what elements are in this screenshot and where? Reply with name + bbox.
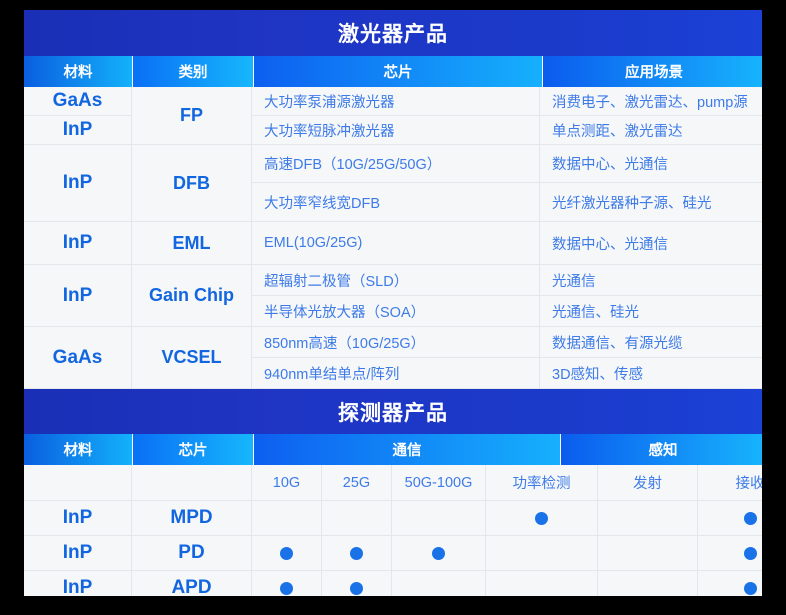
- table-cell-application: 3D感知、传感: [540, 358, 762, 389]
- detector-subheader-25g: 25G: [322, 465, 392, 501]
- table-row: 半导体光放大器（SOA） 光通信、硅光: [252, 296, 762, 327]
- cell-transmit: [598, 536, 698, 571]
- chip-label: 半导体光放大器（SOA）: [264, 301, 425, 322]
- table-cell-chip: 超辐射二极管（SLD）: [252, 265, 540, 296]
- detector-subheader-50g-100g: 50G-100G: [392, 465, 486, 501]
- laser-header-application: 应用场景: [543, 56, 762, 87]
- detector-section-title: 探测器产品: [24, 389, 762, 434]
- table-row: InPPD: [24, 536, 762, 571]
- cell-10g: [252, 571, 322, 596]
- table-cell-category: VCSEL: [132, 327, 252, 389]
- material-label: InP: [63, 232, 93, 254]
- chip-label: 大功率短脉冲激光器: [264, 120, 395, 141]
- support-dot-icon: [280, 582, 293, 595]
- material-stack: GaAs InP: [24, 87, 132, 145]
- material-label: InP: [63, 285, 93, 307]
- cell-power-monitor: [486, 501, 598, 536]
- laser-section-title: 激光器产品: [24, 10, 762, 56]
- table-cell-application: 单点测距、激光雷达: [540, 116, 762, 145]
- subheader-label: 50G-100G: [405, 475, 473, 491]
- laser-header-chip: 芯片: [254, 56, 542, 87]
- chip-app-stack: 大功率泵浦源激光器 消费电子、激光雷达、pump源 大功率短脉冲激光器 单点测距…: [252, 87, 762, 145]
- detector-header-chip: 芯片: [133, 434, 253, 465]
- table-cell-material: GaAs: [24, 327, 132, 389]
- laser-group-vcsel: GaAs VCSEL 850nm高速（10G/25G） 数据通信、有源光缆: [24, 327, 762, 389]
- chip-label: 940nm单结单点/阵列: [264, 363, 399, 384]
- table-row: 大功率窄线宽DFB 光纤激光器种子源、硅光: [252, 183, 762, 222]
- subheader-label: 25G: [343, 475, 370, 491]
- table-cell-material: InP: [24, 116, 132, 145]
- cell-transmit: [598, 571, 698, 596]
- table-cell-chip: EML(10G/25G): [252, 222, 540, 265]
- table-row: 940nm单结单点/阵列 3D感知、传感: [252, 358, 762, 389]
- table-cell-chip: 半导体光放大器（SOA）: [252, 296, 540, 327]
- cell-transmit: [598, 501, 698, 536]
- page-root: 激光器产品 材料 类别 芯片 应用场景 GaAs InP FP: [0, 0, 786, 615]
- cell-25g: [322, 536, 392, 571]
- table-cell-chip: 850nm高速（10G/25G）: [252, 327, 540, 358]
- detector-subheader-power-monitor: 功率检测: [486, 465, 598, 501]
- cell-25g: [322, 571, 392, 596]
- subheader-label: 功率检测: [513, 472, 571, 493]
- support-dot-icon: [744, 512, 757, 525]
- table-cell-application: 光通信、硅光: [540, 296, 762, 327]
- laser-header-category: 类别: [133, 56, 253, 87]
- detector-subheader-receive: 接收: [698, 465, 762, 501]
- material-label: GaAs: [53, 347, 103, 369]
- detector-subheader-10g: 10G: [252, 465, 322, 501]
- table-cell-category: FP: [132, 87, 252, 145]
- chip-label: 高速DFB（10G/25G/50G）: [264, 153, 441, 174]
- table-cell-material: InP: [24, 536, 132, 571]
- laser-group-gain-chip: InP Gain Chip 超辐射二极管（SLD） 光通信: [24, 265, 762, 327]
- table-row: EML(10G/25G) 数据中心、光通信: [252, 222, 762, 265]
- application-label: 光通信、硅光: [552, 301, 639, 322]
- detector-header-communication: 通信: [254, 434, 560, 465]
- chip-label: 大功率泵浦源激光器: [264, 91, 395, 112]
- laser-group-dfb: InP DFB 高速DFB（10G/25G/50G） 数据中心、光通信: [24, 145, 762, 222]
- table-cell-chip: MPD: [132, 501, 252, 536]
- table-cell-chip: 大功率短脉冲激光器: [252, 116, 540, 145]
- material-label: InP: [63, 507, 93, 529]
- table-cell-application: 光通信: [540, 265, 762, 296]
- table-cell-chip: 大功率泵浦源激光器: [252, 87, 540, 116]
- laser-header-row: 材料 类别 芯片 应用场景: [24, 56, 762, 87]
- material-label: GaAs: [53, 90, 103, 112]
- application-label: 光纤激光器种子源、硅光: [552, 192, 712, 213]
- laser-group-eml: InP EML EML(10G/25G) 数据中心、光通信: [24, 222, 762, 265]
- category-label: VCSEL: [161, 347, 221, 367]
- laser-header-material: 材料: [24, 56, 132, 87]
- detector-header-sensing: 感知: [561, 434, 762, 465]
- material-label: InP: [63, 119, 93, 141]
- application-label: 单点测距、激光雷达: [552, 120, 683, 141]
- table-cell-chip: 940nm单结单点/阵列: [252, 358, 540, 389]
- detector-subheader-row: 10G 25G 50G-100G 功率检测 发射 接收: [24, 465, 762, 501]
- product-table-sheet: 激光器产品 材料 类别 芯片 应用场景 GaAs InP FP: [24, 10, 762, 596]
- application-label: 消费电子、激光雷达、pump源: [552, 91, 748, 112]
- detector-subheader-material: [24, 465, 132, 501]
- table-row: InPAPD: [24, 571, 762, 596]
- chip-label: MPD: [170, 507, 212, 529]
- table-cell-application: 消费电子、激光雷达、pump源: [540, 87, 762, 116]
- table-cell-category: Gain Chip: [132, 265, 252, 327]
- chip-label: APD: [171, 577, 211, 596]
- detector-subheader-transmit: 发射: [598, 465, 698, 501]
- laser-table: GaAs InP FP 大功率泵浦源激光器 消费电子、激光雷达: [24, 87, 762, 389]
- table-cell-application: 数据通信、有源光缆: [540, 327, 762, 358]
- category-label: Gain Chip: [149, 285, 234, 305]
- detector-subheader-chip: [132, 465, 252, 501]
- category-label: FP: [180, 105, 203, 125]
- support-dot-icon: [432, 547, 445, 560]
- support-dot-icon: [280, 547, 293, 560]
- table-row: InPMPD: [24, 501, 762, 536]
- chip-app-stack: EML(10G/25G) 数据中心、光通信: [252, 222, 762, 265]
- detector-header-row: 材料 芯片 通信 感知: [24, 434, 762, 465]
- chip-app-stack: 850nm高速（10G/25G） 数据通信、有源光缆 940nm单结单点/阵列 …: [252, 327, 762, 389]
- chip-label: PD: [178, 542, 204, 564]
- cell-10g: [252, 536, 322, 571]
- cell-receive: [698, 571, 762, 596]
- application-label: 光通信: [552, 270, 596, 291]
- table-cell-chip: PD: [132, 536, 252, 571]
- support-dot-icon: [350, 582, 363, 595]
- chip-label: 850nm高速（10G/25G）: [264, 332, 425, 353]
- subheader-label: 10G: [273, 475, 300, 491]
- table-cell-material: InP: [24, 571, 132, 596]
- laser-group-fp: GaAs InP FP 大功率泵浦源激光器 消费电子、激光雷达: [24, 87, 762, 145]
- cell-50g-100g: [392, 571, 486, 596]
- table-cell-category: EML: [132, 222, 252, 265]
- application-label: 3D感知、传感: [552, 363, 643, 384]
- cell-10g: [252, 501, 322, 536]
- cell-25g: [322, 501, 392, 536]
- table-cell-chip: 大功率窄线宽DFB: [252, 183, 540, 222]
- category-label: EML: [173, 233, 211, 253]
- table-row: 大功率泵浦源激光器 消费电子、激光雷达、pump源: [252, 87, 762, 116]
- subheader-label: 发射: [633, 472, 662, 493]
- cell-power-monitor: [486, 571, 598, 596]
- table-cell-material: GaAs: [24, 87, 132, 116]
- table-row: 高速DFB（10G/25G/50G） 数据中心、光通信: [252, 145, 762, 183]
- chip-label: 大功率窄线宽DFB: [264, 192, 380, 213]
- application-label: 数据中心、光通信: [552, 233, 668, 254]
- support-dot-icon: [350, 547, 363, 560]
- support-dot-icon: [744, 547, 757, 560]
- support-dot-icon: [535, 512, 548, 525]
- table-row: 850nm高速（10G/25G） 数据通信、有源光缆: [252, 327, 762, 358]
- chip-label: 超辐射二极管（SLD）: [264, 270, 408, 291]
- table-row: 大功率短脉冲激光器 单点测距、激光雷达: [252, 116, 762, 145]
- material-label: InP: [63, 577, 93, 596]
- material-label: InP: [63, 542, 93, 564]
- table-row: 超辐射二极管（SLD） 光通信: [252, 265, 762, 296]
- chip-app-stack: 高速DFB（10G/25G/50G） 数据中心、光通信 大功率窄线宽DFB 光纤…: [252, 145, 762, 222]
- support-dot-icon: [744, 582, 757, 595]
- table-cell-chip: 高速DFB（10G/25G/50G）: [252, 145, 540, 183]
- cell-receive: [698, 501, 762, 536]
- table-cell-chip: APD: [132, 571, 252, 596]
- table-cell-material: InP: [24, 222, 132, 265]
- table-cell-material: InP: [24, 265, 132, 327]
- table-cell-material: InP: [24, 501, 132, 536]
- detector-table-body: InPMPDInPPDInPAPD: [24, 501, 762, 596]
- application-label: 数据通信、有源光缆: [552, 332, 683, 353]
- chip-app-stack: 超辐射二极管（SLD） 光通信 半导体光放大器（SOA） 光通信、硅光: [252, 265, 762, 327]
- chip-label: EML(10G/25G): [264, 235, 362, 251]
- cell-50g-100g: [392, 501, 486, 536]
- detector-header-material: 材料: [24, 434, 132, 465]
- table-cell-material: InP: [24, 145, 132, 222]
- cell-receive: [698, 536, 762, 571]
- application-label: 数据中心、光通信: [552, 153, 668, 174]
- table-cell-application: 数据中心、光通信: [540, 145, 762, 183]
- cell-50g-100g: [392, 536, 486, 571]
- subheader-label: 接收: [736, 472, 763, 493]
- table-cell-application: 光纤激光器种子源、硅光: [540, 183, 762, 222]
- material-label: InP: [63, 172, 93, 194]
- table-cell-category: DFB: [132, 145, 252, 222]
- table-cell-application: 数据中心、光通信: [540, 222, 762, 265]
- cell-power-monitor: [486, 536, 598, 571]
- category-label: DFB: [173, 173, 210, 193]
